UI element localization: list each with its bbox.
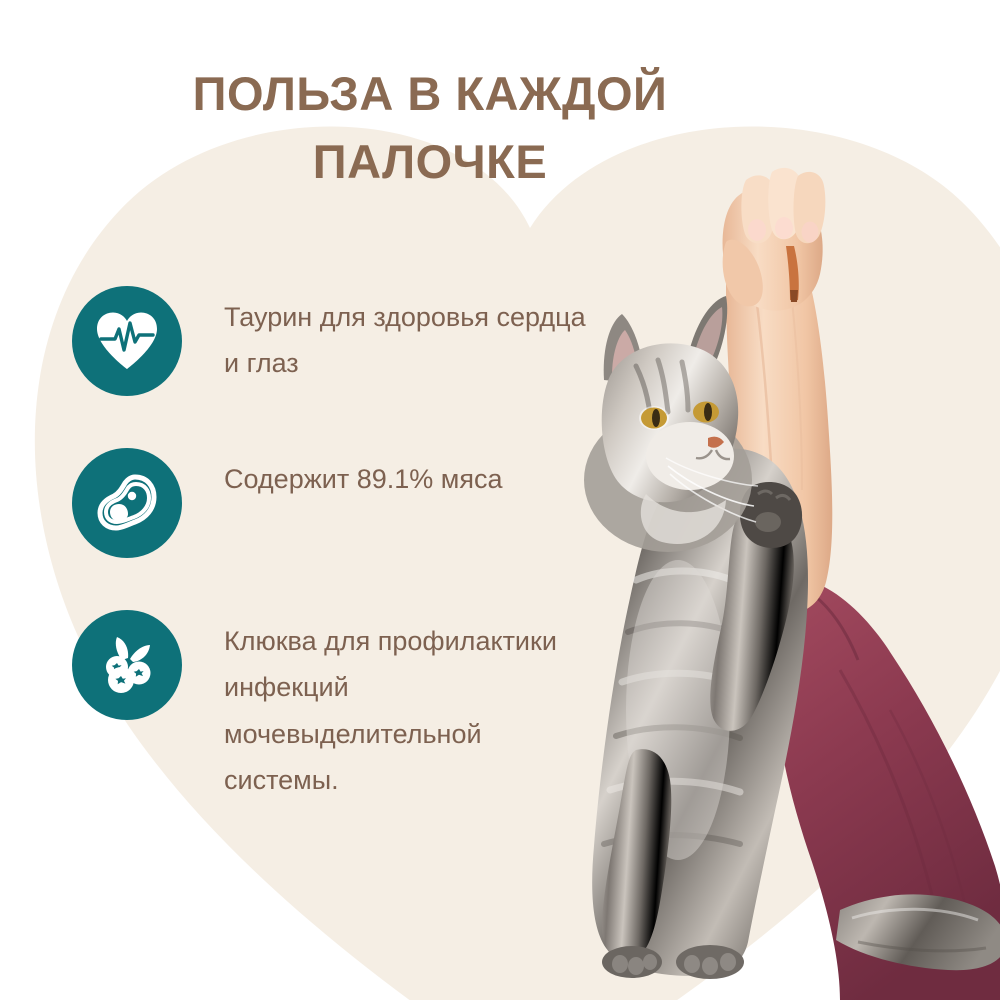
list-item-label: Клюква для профилактики инфекций мочевыд… [224,610,594,804]
list-item-meat: Содержит 89.1% мяса [72,448,632,558]
sleeve [776,580,1000,1000]
list-item-taurine: Таурин для здоровья сердца и глаз [72,286,632,396]
cat-tail [836,894,1000,970]
list-item-label: Содержит 89.1% мяса [224,448,502,502]
list-item-label: Таурин для здоровья сердца и глаз [224,286,594,387]
treat-stick [786,246,799,300]
benefits-list: Таурин для здоровья сердца и глаз Содерж… [72,286,632,804]
list-item-cranberry: Клюква для профилактики инфекций мочевыд… [72,610,632,804]
page-title: ПОЛЬЗА В КАЖДОЙ ПАЛОЧКЕ [120,60,740,196]
cranberry-berries-icon [72,610,182,720]
meat-steak-icon [72,448,182,558]
cat-right-paw [676,945,744,979]
cat-front-leg [710,482,802,731]
forearm [726,229,832,613]
heart-pulse-icon [72,286,182,396]
promo-poster: ПОЛЬЗА В КАЖДОЙ ПАЛОЧКЕ Таурин для здоро… [0,0,1000,1000]
